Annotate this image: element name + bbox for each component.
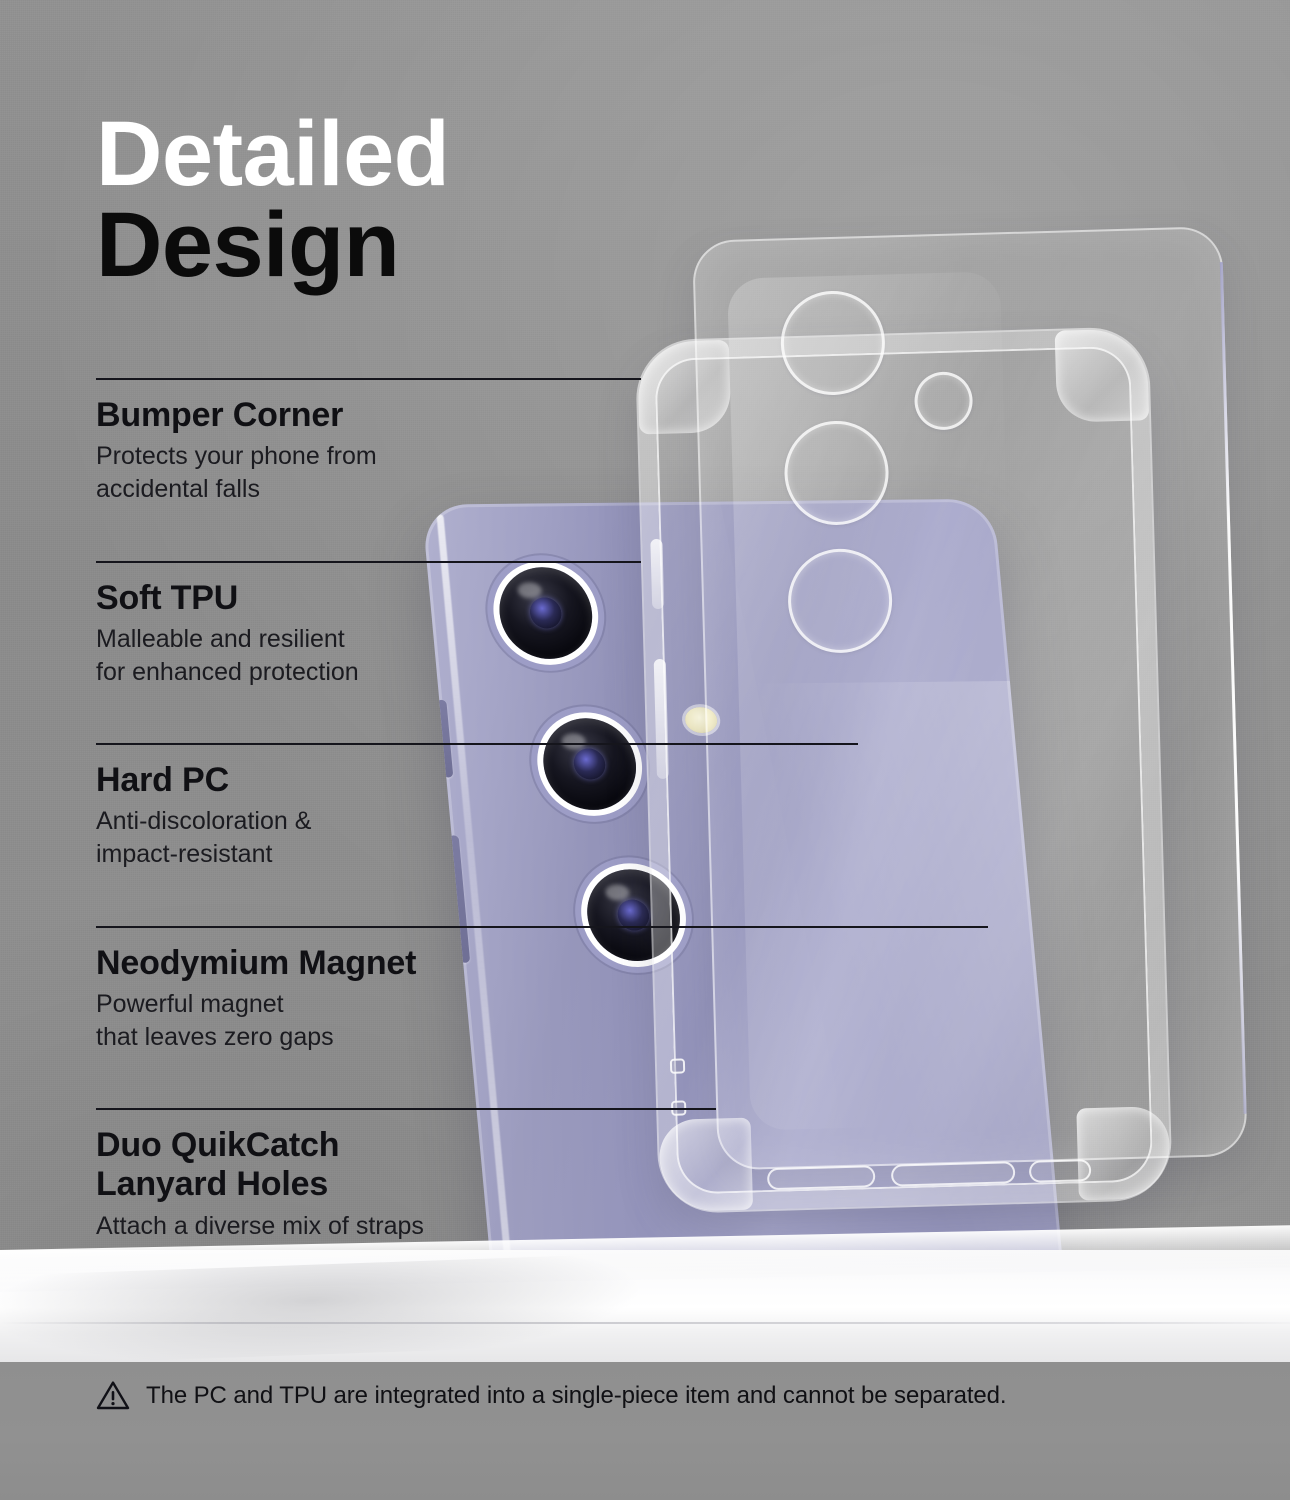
footnote-text: The PC and TPU are integrated into a sin… (146, 1382, 1007, 1410)
case-plate-right-edge (1220, 262, 1247, 1114)
feature-title: Duo QuikCatch Lanyard Holes (96, 1126, 424, 1205)
feature-title: Soft TPU (96, 579, 359, 618)
feature-rule (96, 1108, 716, 1110)
feature-rule (96, 743, 858, 745)
product-photo (430, 200, 1290, 1360)
feature-item-soft-tpu: Soft TPU Malleable and resilient for enh… (96, 561, 359, 688)
feature-description: Powerful magnet that leaves zero gaps (96, 988, 416, 1053)
footnote: The PC and TPU are integrated into a sin… (96, 1380, 1007, 1411)
feature-rule (96, 561, 641, 563)
feature-item-neodymium-magnet: Neodymium Magnet Powerful magnet that le… (96, 926, 416, 1053)
feature-title: Bumper Corner (96, 396, 377, 435)
camera-lens-1-glint (517, 582, 542, 599)
feature-rule (96, 926, 988, 928)
feature-description: Attach a diverse mix of straps (96, 1210, 424, 1243)
case-speaker-cutout-left (767, 1165, 876, 1190)
warning-triangle-icon (96, 1380, 130, 1411)
camera-lens-3-glint (605, 884, 630, 901)
display-surface-edge (0, 1322, 1290, 1324)
case-speaker-cutout-right (1029, 1159, 1092, 1183)
case-power-button-cutout (654, 659, 669, 779)
lanyard-hole-1 (670, 1058, 685, 1073)
camera-lens-1-pupil (529, 597, 563, 628)
feature-title: Hard PC (96, 761, 311, 800)
clear-protective-case (634, 226, 1257, 1252)
case-port-cutout (891, 1161, 1016, 1186)
feature-item-hard-pc: Hard PC Anti-discoloration & impact-resi… (96, 743, 311, 870)
feature-rule (96, 378, 641, 380)
bumper-corner-top-left (637, 340, 732, 435)
feature-item-duo-quikcatch-lanyard-holes: Duo QuikCatch Lanyard Holes Attach a div… (96, 1108, 424, 1242)
camera-lens-2-pupil (573, 748, 607, 779)
page-title: Detailed Design (96, 112, 449, 287)
case-volume-button-cutout (650, 539, 664, 609)
case-bumper-frame (637, 328, 1171, 1212)
page-title-line-1: Detailed (96, 112, 449, 197)
bumper-corner-bottom-left (659, 1118, 754, 1213)
case-bottom-cutouts (767, 1159, 1098, 1198)
feature-description: Anti-discoloration & impact-resistant (96, 805, 311, 870)
camera-lens-2-glint (561, 733, 586, 750)
feature-description: Malleable and resilient for enhanced pro… (96, 623, 359, 688)
page-title-line-2: Design (96, 203, 449, 288)
feature-title: Neodymium Magnet (96, 944, 416, 983)
feature-item-bumper-corner: Bumper Corner Protects your phone from a… (96, 378, 377, 505)
feature-description: Protects your phone from accidental fall… (96, 440, 377, 505)
